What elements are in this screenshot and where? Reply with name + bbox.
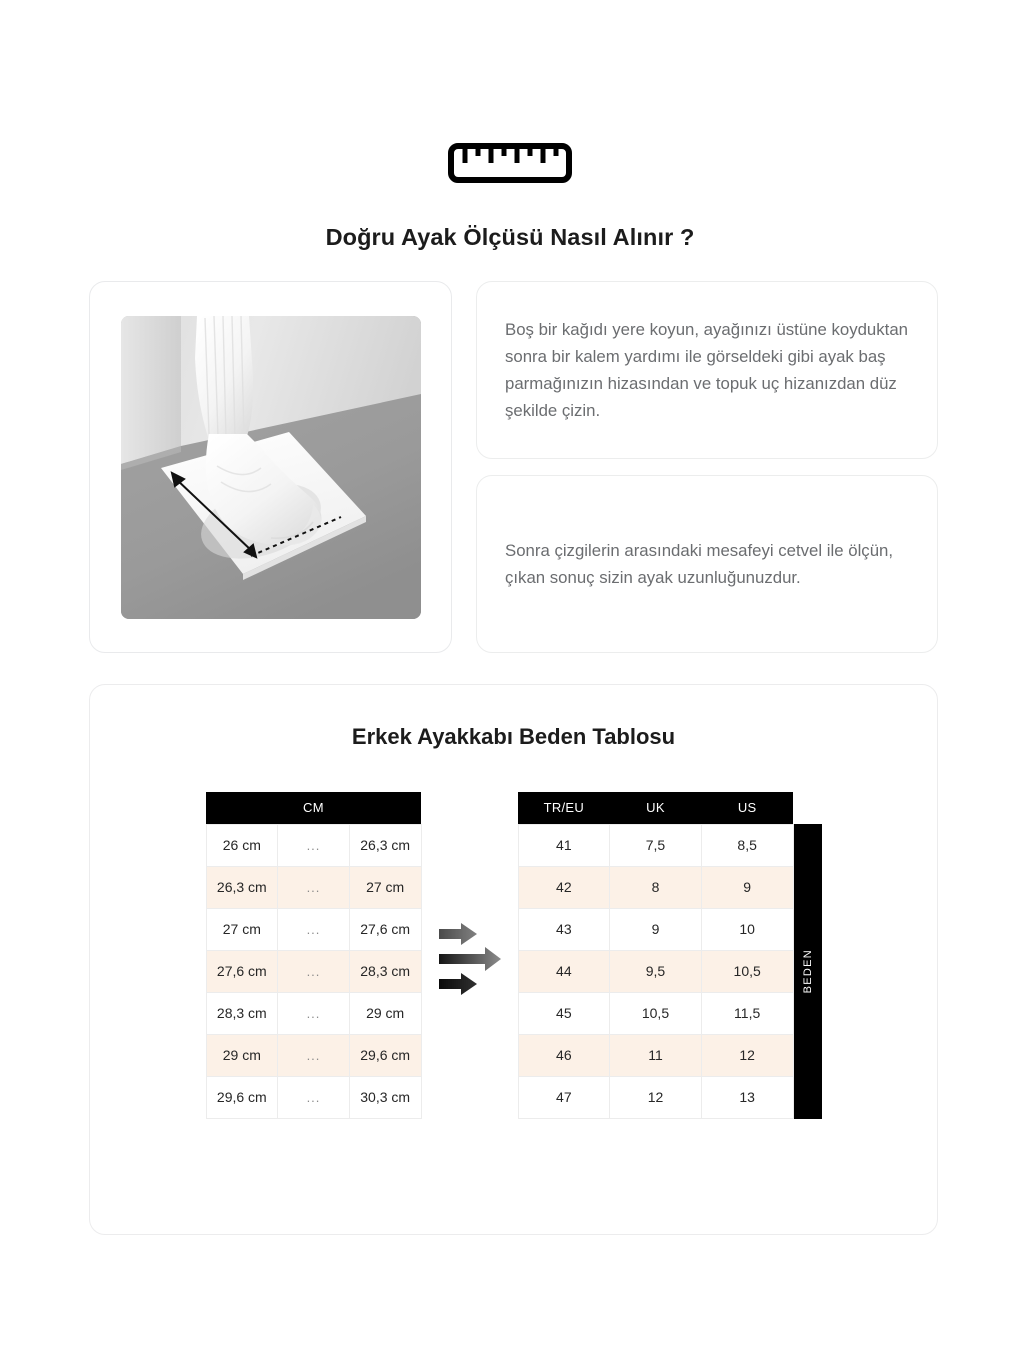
cm-from: 27 cm — [206, 908, 278, 950]
table-row: 28,3 cm ... 29 cm — [206, 992, 421, 1034]
cm-dots: ... — [278, 908, 350, 950]
instruction-text-column: Boş bir kağıdı yere koyun, ayağınızı üst… — [476, 281, 938, 653]
cm-to: 27,6 cm — [349, 908, 421, 950]
instruction-card-2: Sonra çizgilerin arasındaki mesafeyi cet… — [476, 475, 938, 653]
cm-to: 29 cm — [349, 992, 421, 1034]
cm-to: 28,3 cm — [349, 950, 421, 992]
ruler-icon — [448, 143, 572, 183]
size-chart-card: Erkek Ayakkabı Beden Tablosu CM 26 cm ..… — [89, 684, 938, 1235]
size-uk: 10,5 — [610, 992, 702, 1034]
cm-to: 26,3 cm — [349, 824, 421, 866]
table-row: 43 9 10 — [518, 908, 793, 950]
cm-dots: ... — [278, 1034, 350, 1076]
table-row: 47 12 13 — [518, 1076, 793, 1118]
instructions-section: Boş bir kağıdı yere koyun, ayağınızı üst… — [89, 281, 938, 653]
table-row: 42 8 9 — [518, 866, 793, 908]
size-uk: 12 — [610, 1076, 702, 1118]
ruler-icon-container — [0, 140, 1020, 186]
size-table-block: TR/EU UK US 41 7,5 8,5 42 8 9 — [518, 792, 822, 1119]
size-table-header-row: TR/EU UK US — [518, 792, 793, 824]
size-uk: 9,5 — [610, 950, 702, 992]
size-us: 12 — [701, 1034, 793, 1076]
foot-measure-photo — [121, 316, 421, 619]
page-header: Doğru Ayak Ölçüsü Nasıl Alınır ? — [0, 0, 1020, 251]
table-row: 29 cm ... 29,6 cm — [206, 1034, 421, 1076]
table-row: 27,6 cm ... 28,3 cm — [206, 950, 421, 992]
size-header-tr-eu: TR/EU — [518, 792, 610, 824]
cm-to: 30,3 cm — [349, 1076, 421, 1118]
size-us: 11,5 — [701, 992, 793, 1034]
photo-card — [89, 281, 452, 653]
beden-label-text: BEDEN — [802, 949, 814, 993]
table-row: 26,3 cm ... 27 cm — [206, 866, 421, 908]
cm-to: 27 cm — [349, 866, 421, 908]
cm-table: CM 26 cm ... 26,3 cm 26,3 cm ... 27 cm 2… — [206, 792, 422, 1119]
size-us: 9 — [701, 866, 793, 908]
table-row: 46 11 12 — [518, 1034, 793, 1076]
size-tr-eu: 43 — [518, 908, 610, 950]
table-row: 27 cm ... 27,6 cm — [206, 908, 421, 950]
size-us: 8,5 — [701, 824, 793, 866]
size-uk: 9 — [610, 908, 702, 950]
size-uk: 7,5 — [610, 824, 702, 866]
cm-dots: ... — [278, 992, 350, 1034]
cm-to: 29,6 cm — [349, 1034, 421, 1076]
instruction-text-1: Boş bir kağıdı yere koyun, ayağınızı üst… — [505, 316, 909, 425]
size-tr-eu: 41 — [518, 824, 610, 866]
cm-dots: ... — [278, 950, 350, 992]
size-us: 10 — [701, 908, 793, 950]
cm-table-header-row: CM — [206, 792, 421, 824]
size-uk: 11 — [610, 1034, 702, 1076]
size-header-uk: UK — [610, 792, 702, 824]
table-row: 29,6 cm ... 30,3 cm — [206, 1076, 421, 1118]
size-us: 10,5 — [701, 950, 793, 992]
instruction-text-2: Sonra çizgilerin arasındaki mesafeyi cet… — [505, 537, 909, 591]
cm-from: 26,3 cm — [206, 866, 278, 908]
size-tr-eu: 46 — [518, 1034, 610, 1076]
size-tr-eu: 45 — [518, 992, 610, 1034]
cm-from: 27,6 cm — [206, 950, 278, 992]
cm-dots: ... — [278, 824, 350, 866]
cm-from: 29,6 cm — [206, 1076, 278, 1118]
table-row: 41 7,5 8,5 — [518, 824, 793, 866]
size-us: 13 — [701, 1076, 793, 1118]
cm-from: 28,3 cm — [206, 992, 278, 1034]
size-table: TR/EU UK US 41 7,5 8,5 42 8 9 — [518, 792, 794, 1119]
cm-from: 26 cm — [206, 824, 278, 866]
size-chart-title: Erkek Ayakkabı Beden Tablosu — [90, 724, 937, 750]
cm-table-header: CM — [206, 792, 421, 824]
size-tr-eu: 47 — [518, 1076, 610, 1118]
cm-dots: ... — [278, 1076, 350, 1118]
three-right-arrows-icon — [422, 911, 518, 999]
table-row: 26 cm ... 26,3 cm — [206, 824, 421, 866]
table-row: 45 10,5 11,5 — [518, 992, 793, 1034]
size-tr-eu: 42 — [518, 866, 610, 908]
page-title: Doğru Ayak Ölçüsü Nasıl Alınır ? — [0, 224, 1020, 251]
beden-side-label: BEDEN — [794, 824, 822, 1119]
size-uk: 8 — [610, 866, 702, 908]
size-tables-row: CM 26 cm ... 26,3 cm 26,3 cm ... 27 cm 2… — [90, 792, 937, 1119]
cm-dots: ... — [278, 866, 350, 908]
size-tr-eu: 44 — [518, 950, 610, 992]
table-row: 44 9,5 10,5 — [518, 950, 793, 992]
size-header-us: US — [701, 792, 793, 824]
cm-table-body: 26 cm ... 26,3 cm 26,3 cm ... 27 cm 27 c… — [206, 824, 421, 1118]
size-table-body: 41 7,5 8,5 42 8 9 43 9 10 — [518, 824, 793, 1118]
cm-from: 29 cm — [206, 1034, 278, 1076]
instruction-card-1: Boş bir kağıdı yere koyun, ayağınızı üst… — [476, 281, 938, 459]
